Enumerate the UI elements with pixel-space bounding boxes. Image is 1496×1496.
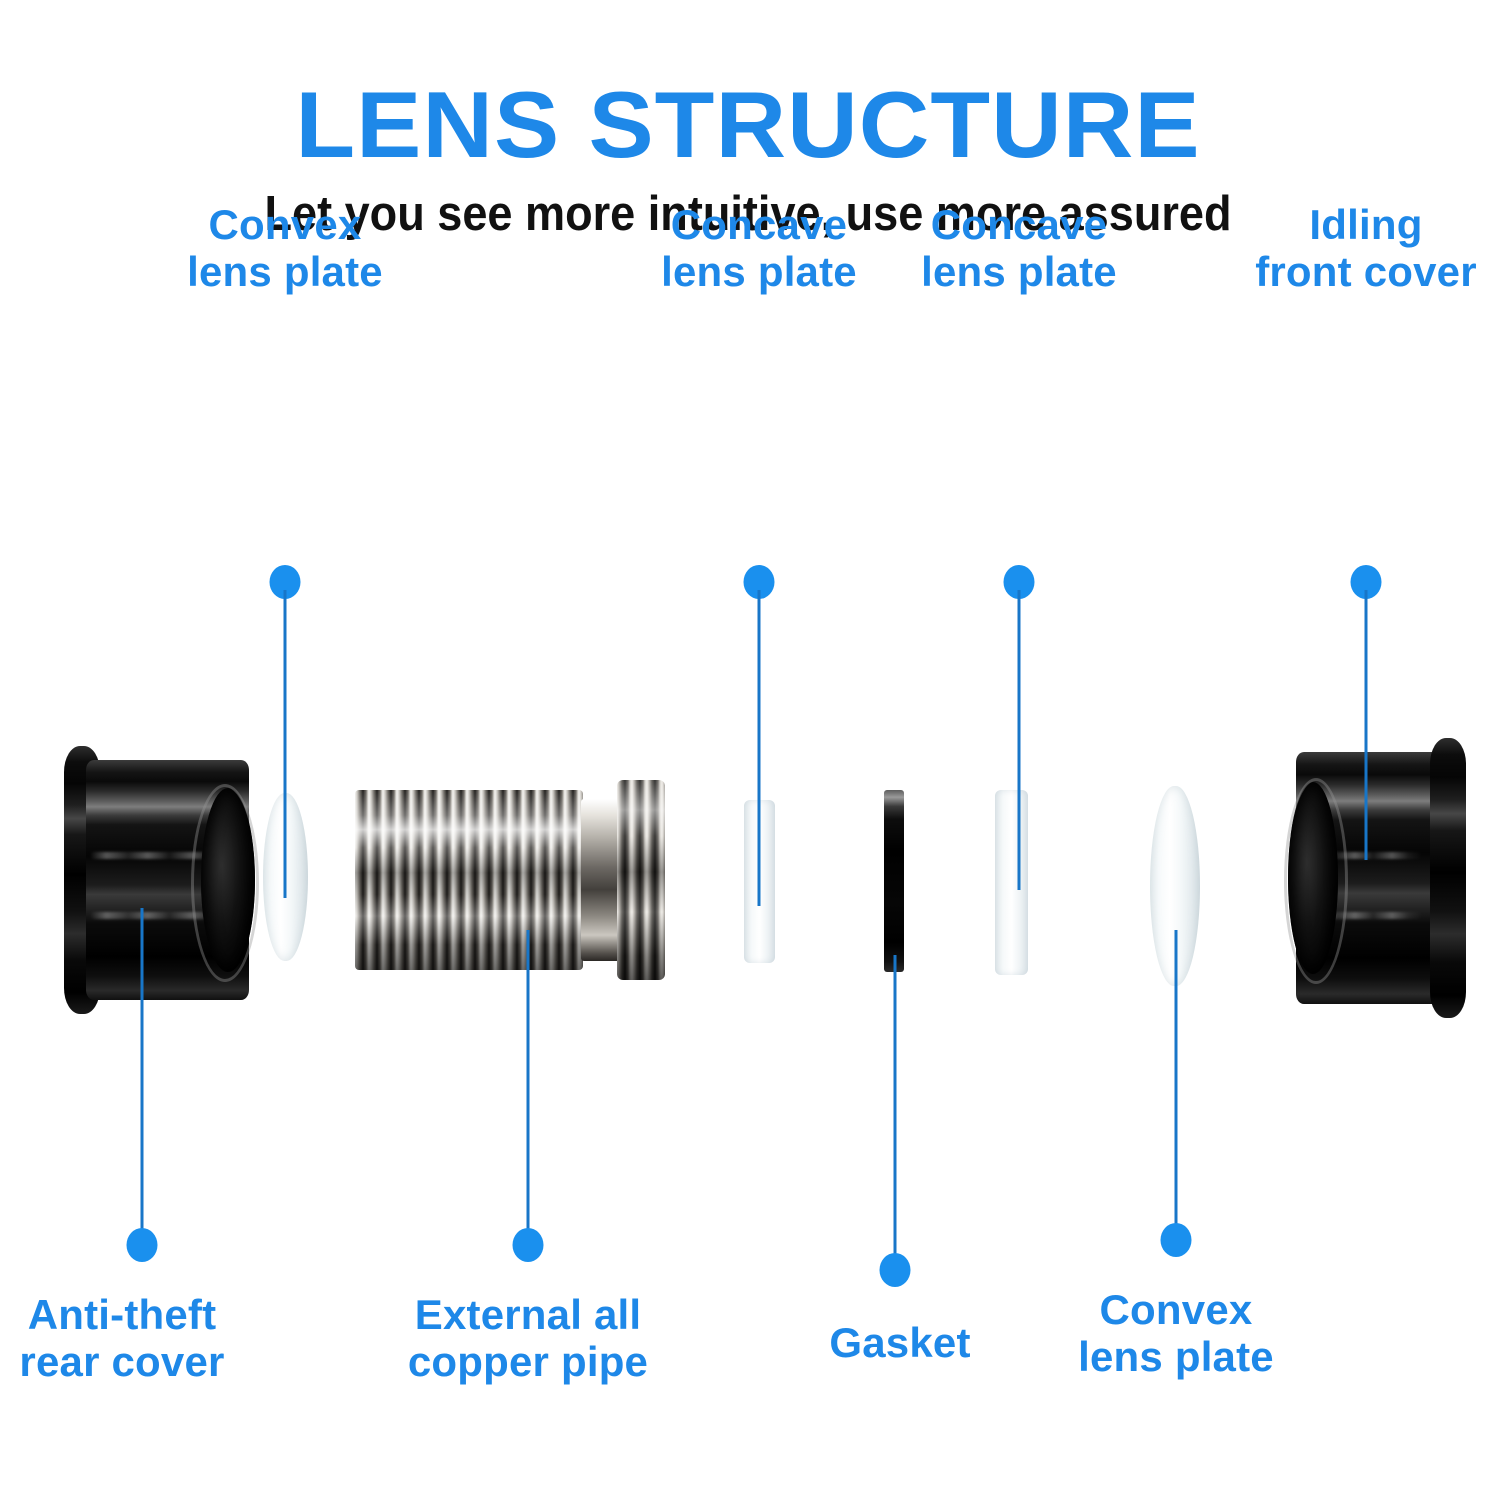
callout-dot xyxy=(1161,1223,1192,1257)
callout-leader-line xyxy=(758,590,761,906)
page-title: LENS STRUCTURE xyxy=(0,78,1496,172)
callout-leader-line xyxy=(1175,930,1178,1225)
part-idling-front-cover xyxy=(1296,752,1466,1004)
callout-label: Convex lens plate xyxy=(1006,1286,1346,1380)
callout-leader-line xyxy=(1365,590,1368,860)
front-cover-flange xyxy=(1430,738,1466,1018)
part-gasket xyxy=(884,790,904,972)
callout-leader-line xyxy=(141,908,144,1230)
part-external-all-copper-pipe xyxy=(355,790,660,970)
copper-pipe-head xyxy=(617,780,665,980)
callout-leader-line xyxy=(284,590,287,898)
front-cover-rim-highlight xyxy=(1284,778,1348,984)
callout-label: Idling front cover xyxy=(1196,201,1496,295)
callout-label: External all copper pipe xyxy=(338,1291,718,1385)
callout-dot xyxy=(127,1228,158,1262)
callout-label: Concave lens plate xyxy=(849,201,1189,295)
callout-dot xyxy=(880,1253,911,1287)
callout-label: Anti-theft rear cover xyxy=(0,1291,292,1385)
lens-structure-diagram: LENS STRUCTURE Let you see more intuitiv… xyxy=(0,0,1496,1496)
callout-leader-line xyxy=(1018,590,1021,890)
part-anti-theft-rear-cover xyxy=(64,760,249,1000)
copper-pipe-threads xyxy=(355,790,583,970)
callout-dot xyxy=(513,1228,544,1262)
callout-leader-line xyxy=(894,955,897,1255)
callout-label: Gasket xyxy=(750,1319,1050,1366)
callout-label: Convex lens plate xyxy=(115,201,455,295)
callout-leader-line xyxy=(527,930,530,1230)
rear-cover-rim-highlight xyxy=(191,784,259,982)
part-concave-lens-plate-2 xyxy=(995,790,1028,975)
